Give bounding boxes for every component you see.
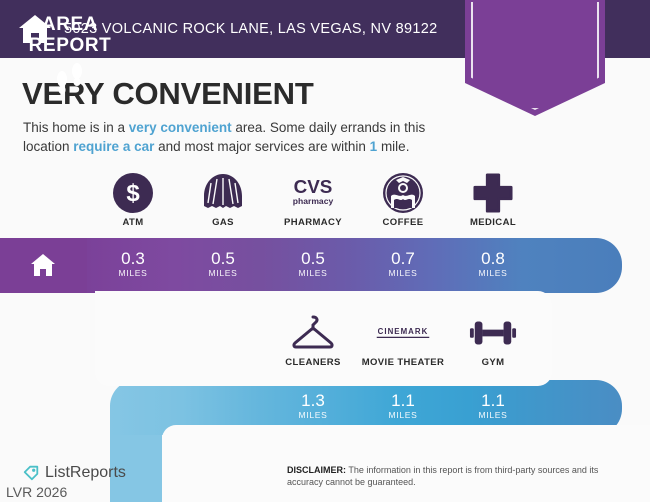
- amenity-gas: GAS: [178, 172, 268, 228]
- dollar-circle-icon: $: [112, 172, 154, 214]
- distance-pharmacy: 0.5 MILES: [268, 249, 358, 279]
- amenity-label: ATM: [122, 217, 143, 228]
- svg-text:CVS: CVS: [294, 176, 333, 197]
- desc-part3: and most major services are within: [154, 139, 369, 154]
- medical-cross-icon: [473, 172, 513, 214]
- distance-unit: MILES: [178, 268, 268, 279]
- amenity-label: CLEANERS: [285, 357, 340, 368]
- area-report-badge: [465, 0, 605, 116]
- cinemark-logo-icon: CINEMARK: [368, 312, 438, 354]
- amenity-movie-theater: CINEMARK MOVIE THEATER: [358, 312, 448, 368]
- svg-text:CINEMARK: CINEMARK: [378, 327, 429, 336]
- distance-unit: MILES: [358, 410, 448, 421]
- amenity-cleaners: CLEANERS: [268, 312, 358, 368]
- desc-part1: This home is in a: [23, 120, 129, 135]
- disclaimer: DISCLAIMER: The information in this repo…: [287, 464, 635, 488]
- amenity-label: MOVIE THEATER: [362, 357, 445, 368]
- badge-border: [471, 2, 599, 110]
- distance-unit: MILES: [88, 268, 178, 279]
- listreports-brand-name: ListReports: [45, 464, 126, 482]
- house-icon: [30, 253, 56, 277]
- amenity-label: GAS: [212, 217, 234, 228]
- amenity-coffee: COFFEE: [358, 172, 448, 228]
- distance-unit: MILES: [358, 268, 448, 279]
- badge-line1: AREA: [0, 14, 140, 35]
- desc-part4: mile.: [377, 139, 409, 154]
- svg-text:pharmacy: pharmacy: [293, 196, 334, 206]
- distance-unit: MILES: [448, 268, 538, 279]
- distance-atm: 0.3 MILES: [88, 249, 178, 279]
- distance-coffee: 0.7 MILES: [358, 249, 448, 279]
- desc-highlight-convenient: very convenient: [129, 120, 232, 135]
- distance-unit: MILES: [268, 410, 358, 421]
- distance-cleaners: 1.3 MILES: [268, 391, 358, 421]
- report-code: LVR 2026: [6, 484, 67, 500]
- distance-movie-theater: 1.1 MILES: [358, 391, 448, 421]
- badge-line2: REPORT: [0, 35, 140, 56]
- footprints-icon: [50, 62, 90, 96]
- distance-value: 0.7: [358, 249, 448, 268]
- distance-value: 1.1: [358, 391, 448, 410]
- amenity-icon-row-1: $ ATM GAS CVS pharmacy PHARMACY: [0, 172, 650, 234]
- distance-value: 1.1: [448, 391, 538, 410]
- distance-value: 0.3: [88, 249, 178, 268]
- svg-text:$: $: [126, 180, 140, 207]
- distance-value: 0.5: [268, 249, 358, 268]
- listreports-logo[interactable]: ListReports: [22, 464, 126, 482]
- starbucks-logo-icon: [382, 172, 424, 214]
- amenity-label: MEDICAL: [470, 217, 516, 228]
- amenity-icon-row-2: CLEANERS CINEMARK MOVIE THEATER GYM: [0, 312, 650, 374]
- description-text: This home is in a very convenient area. …: [23, 118, 463, 156]
- clothes-hanger-icon: [290, 312, 336, 354]
- amenity-atm: $ ATM: [88, 172, 178, 228]
- badge-text: AREA REPORT: [0, 14, 140, 56]
- listreports-tag-icon: [22, 464, 40, 482]
- amenity-label: COFFEE: [383, 217, 424, 228]
- distance-unit: MILES: [268, 268, 358, 279]
- distance-gas: 0.5 MILES: [178, 249, 268, 279]
- distance-value: 0.5: [178, 249, 268, 268]
- cvs-pharmacy-icon: CVS pharmacy: [283, 172, 343, 214]
- disclaimer-label: DISCLAIMER:: [287, 465, 346, 475]
- distance-unit: MILES: [448, 410, 538, 421]
- shell-logo-icon: [201, 172, 245, 214]
- distance-value: 1.3: [268, 391, 358, 410]
- distance-bar-row-1: 0.3 MILES 0.5 MILES 0.5 MILES 0.7 MILES …: [0, 238, 622, 293]
- desc-highlight-car: require a car: [73, 139, 154, 154]
- amenity-label: GYM: [482, 357, 505, 368]
- distance-gym: 1.1 MILES: [448, 391, 538, 421]
- amenity-pharmacy: CVS pharmacy PHARMACY: [268, 172, 358, 228]
- amenity-label: PHARMACY: [284, 217, 342, 228]
- dumbbell-icon: [469, 312, 517, 354]
- distance-value: 0.8: [448, 249, 538, 268]
- distance-medical: 0.8 MILES: [448, 249, 538, 279]
- amenity-medical: MEDICAL: [448, 172, 538, 228]
- amenity-gym: GYM: [448, 312, 538, 368]
